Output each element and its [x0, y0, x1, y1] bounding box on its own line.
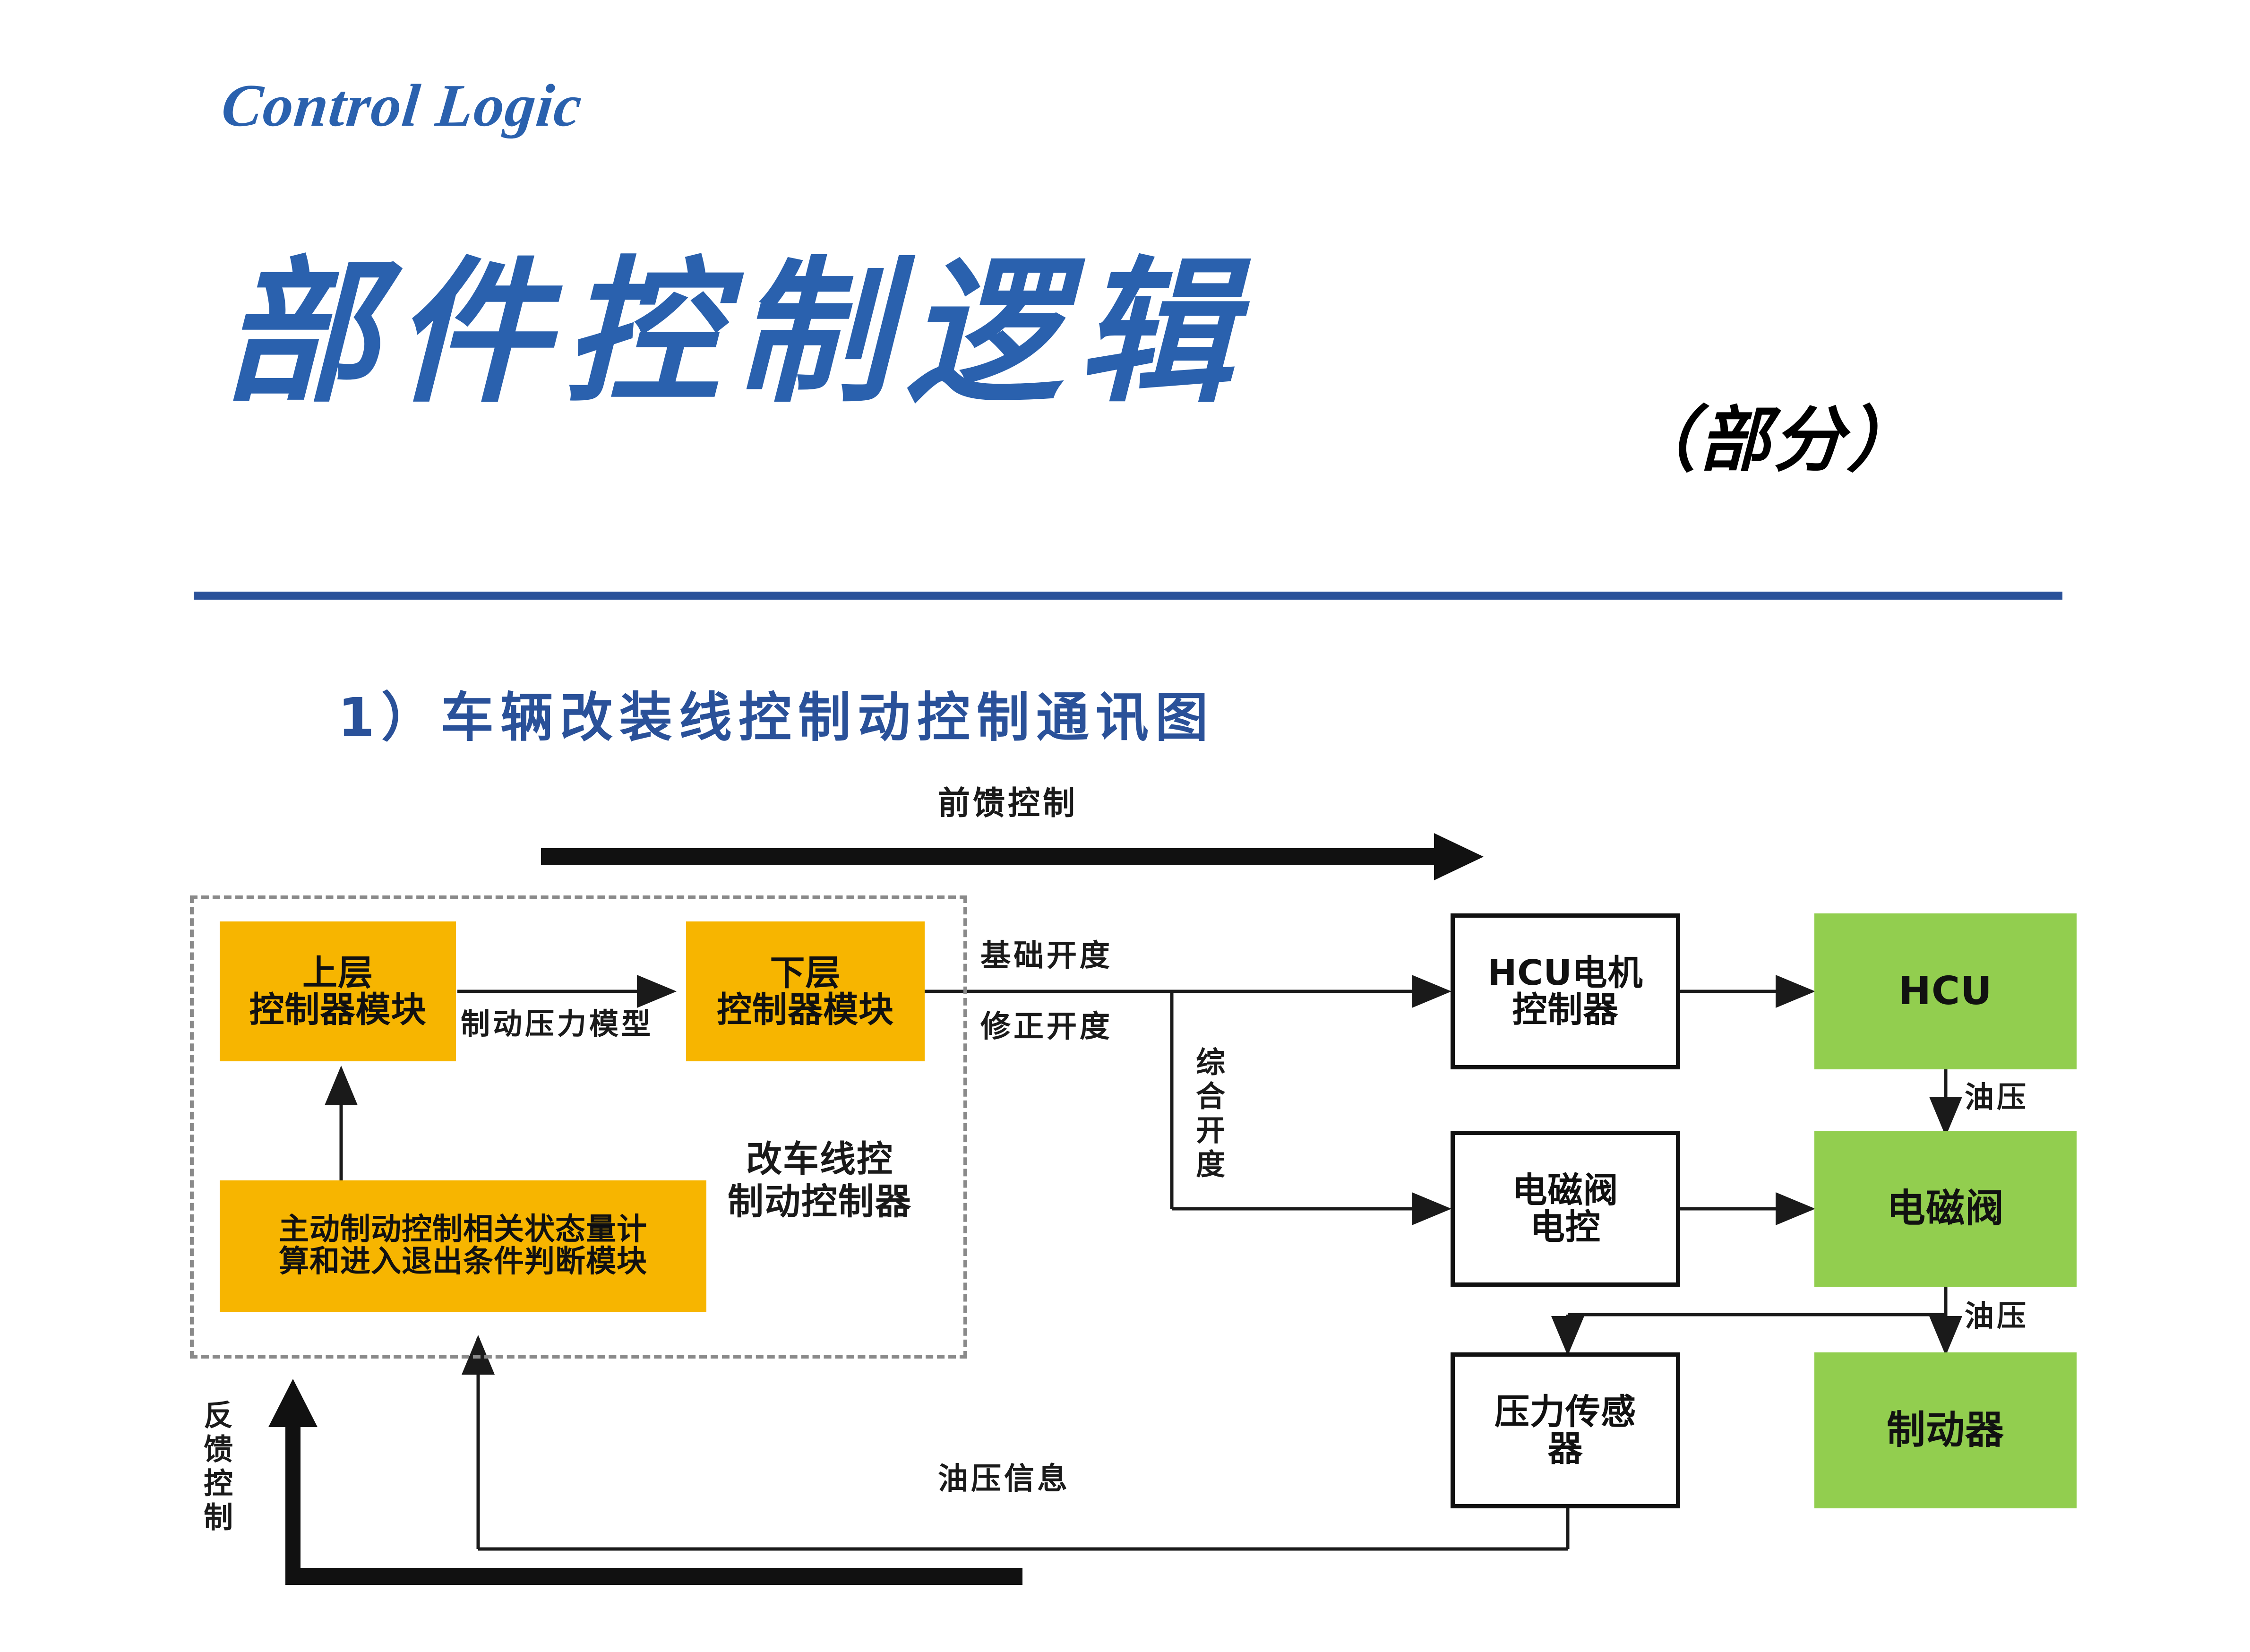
node-upper-controller-label: 上层 控制器模块 [249, 955, 427, 1029]
group-caption: 改车线控 制动控制器 [728, 1138, 912, 1222]
label-oil-pressure-hcu: 油压 [1965, 1080, 2029, 1114]
node-solenoid-valve-label: 电磁阀 [1887, 1188, 2004, 1230]
label-oil-pressure-valve: 油压 [1965, 1299, 2029, 1333]
node-state-calc-module[interactable]: 主动制动控制相关状态量计 算和进入退出条件判断模块 [220, 1180, 706, 1312]
feedback-arrow [268, 1379, 1022, 1585]
node-state-calc-module-label: 主动制动控制相关状态量计 算和进入退出条件判断模块 [279, 1214, 647, 1278]
node-pressure-sensor[interactable]: 压力传感 器 [1451, 1352, 1680, 1508]
label-corrected-opening: 修正开度 [980, 1009, 1113, 1045]
node-hcu-motor-controller-label: HCU电机 控制器 [1487, 955, 1643, 1029]
label-combined-opening: 综合开度 [1191, 1047, 1225, 1183]
node-hcu-label: HCU [1898, 971, 1992, 1012]
node-brake[interactable]: 制动器 [1814, 1352, 2077, 1508]
slide-canvas: Control Logic 部件控制逻辑 （部分） 1）车辆改装线控制动控制通讯… [0, 0, 2250, 1652]
node-brake-label: 制动器 [1887, 1410, 2004, 1451]
node-solenoid-valve-controller-label: 电磁阀 电控 [1512, 1172, 1619, 1246]
node-upper-controller[interactable]: 上层 控制器模块 [220, 921, 456, 1061]
node-hcu-motor-controller[interactable]: HCU电机 控制器 [1451, 913, 1680, 1069]
label-oil-pressure-info: 油压信息 [938, 1461, 1070, 1497]
node-solenoid-valve-controller[interactable]: 电磁阀 电控 [1451, 1131, 1680, 1287]
label-brake-pressure-model: 制动压力模型 [461, 1007, 653, 1041]
control-flow-diagram: 上层 控制器模块 下层 控制器模块 主动制动控制相关状态量计 算和进入退出条件判… [0, 0, 2250, 1652]
label-base-opening: 基础开度 [980, 938, 1113, 974]
label-feedback-control: 反馈控制 [198, 1400, 233, 1536]
node-lower-controller[interactable]: 下层 控制器模块 [686, 921, 925, 1061]
label-feedforward: 前馈控制 [938, 784, 1078, 822]
node-hcu[interactable]: HCU [1814, 913, 2077, 1069]
node-solenoid-valve[interactable]: 电磁阀 [1814, 1131, 2077, 1287]
node-lower-controller-label: 下层 控制器模块 [717, 955, 894, 1029]
feedforward-arrow [541, 833, 1484, 880]
node-pressure-sensor-label: 压力传感 器 [1494, 1394, 1636, 1468]
